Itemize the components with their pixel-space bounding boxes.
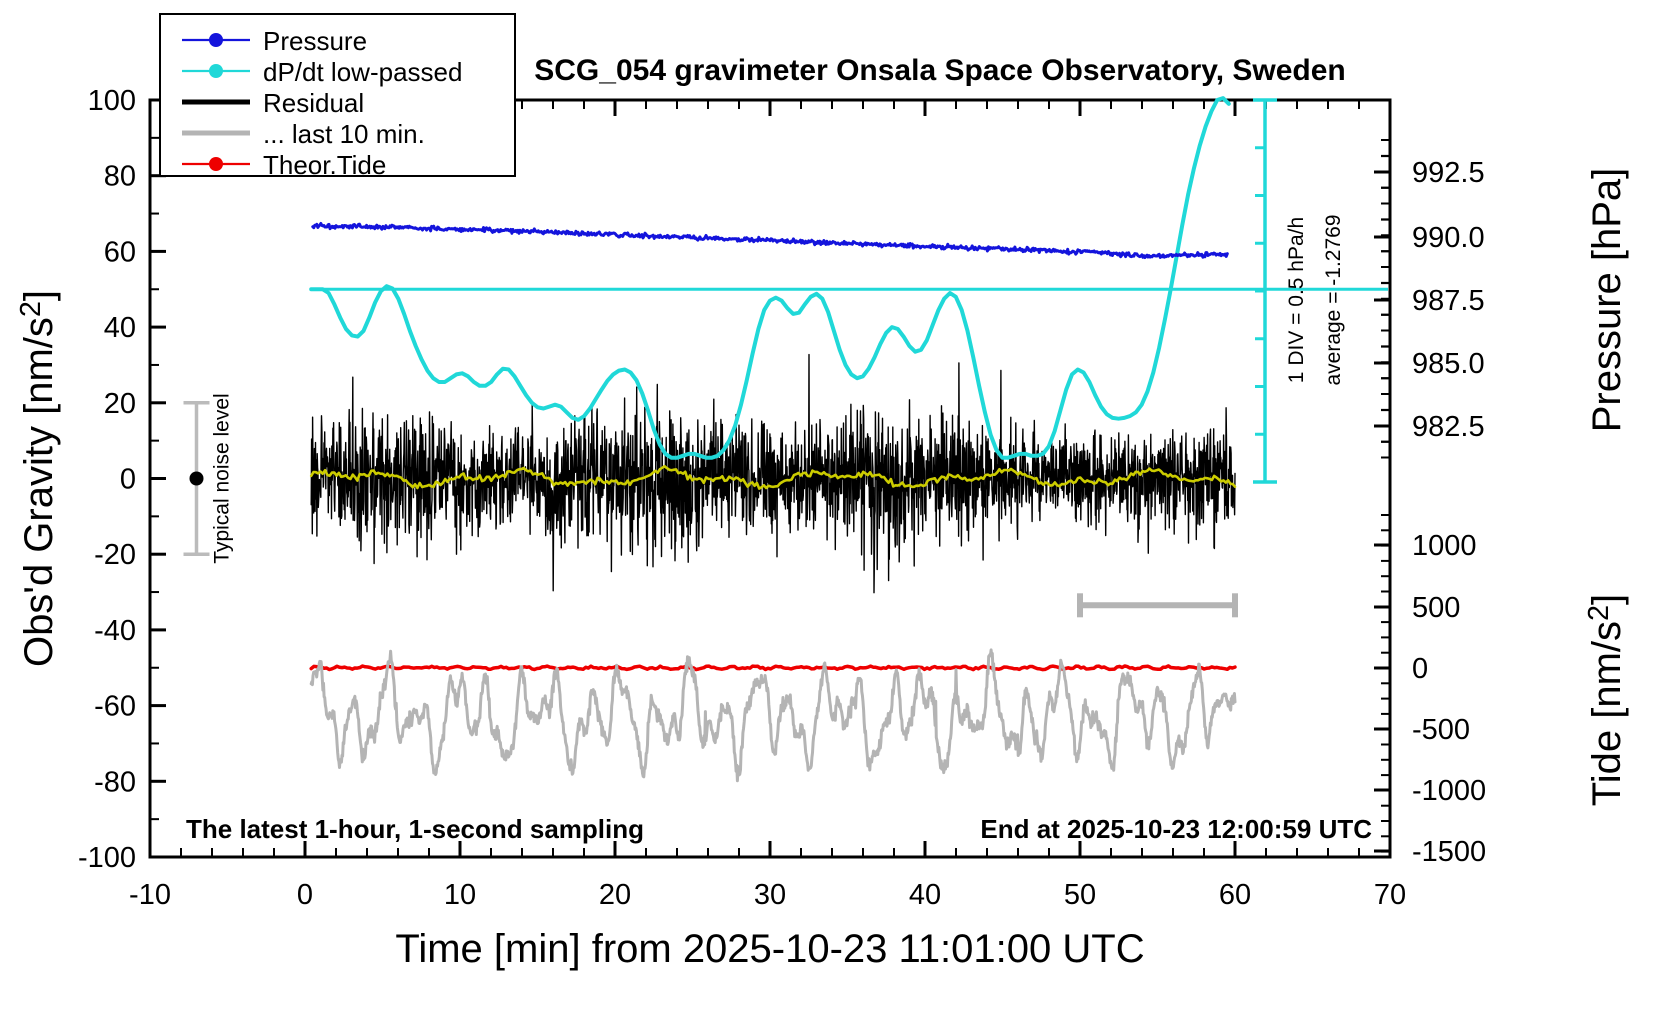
noise-center-dot xyxy=(190,472,204,486)
tide-tick-label: 500 xyxy=(1412,592,1460,624)
x-tick-label: -10 xyxy=(129,879,171,911)
footer-right-label: End at 2025-10-23 12:00:59 UTC xyxy=(980,814,1372,844)
x-tick-label: 0 xyxy=(297,879,313,911)
pressure-tick-label: 987.5 xyxy=(1412,285,1485,317)
x-axis-title: Time [min] from 2025-10-23 11:01:00 UTC xyxy=(395,927,1144,971)
y-tick-label: -80 xyxy=(94,766,136,798)
y-axis-title-left: Obs'd Gravity [nm/s2] xyxy=(15,290,61,667)
typical-noise-level: Typical noise levelThe latest 1-hour, 1-… xyxy=(160,14,1629,844)
typical-noise-label: Typical noise level xyxy=(211,393,234,563)
footer-annotations: The latest 1-hour, 1-second samplingEnd … xyxy=(160,14,1629,844)
y-tick-label: -40 xyxy=(94,615,136,647)
pressure-tick-label: 990.0 xyxy=(1412,222,1485,254)
legend-swatch-dot xyxy=(209,64,223,78)
x-tick-label: 30 xyxy=(754,879,786,911)
y-tick-label: -20 xyxy=(94,539,136,571)
legend-label-1: dP/dt low-passed xyxy=(263,57,462,87)
x-tick-label: 70 xyxy=(1374,879,1406,911)
title-group: SCG_054 gravimeter Onsala Space Observat… xyxy=(160,14,1629,844)
y-tick-label: 60 xyxy=(104,236,136,268)
residual-trace xyxy=(311,355,1235,593)
y-tick-label: -100 xyxy=(78,842,136,874)
y-axis-left: 100806040200-20-40-60-80-100Obs'd Gravit… xyxy=(15,14,1629,874)
dpdt-average-label: average = -1.2769 xyxy=(1322,214,1345,385)
chart-page: -10010203040506070Time [min] from 2025-1… xyxy=(0,0,1660,1020)
y-axis-title-pressure: Pressure [hPa] xyxy=(1585,168,1629,433)
x-tick-label: 60 xyxy=(1219,879,1251,911)
dpdt-scale-bar: 1 DIV = 0.5 hPa/haverage = -1.2769Typica… xyxy=(160,14,1629,844)
right-axis-titles: Pressure [hPa]Tide [nm/s2] xyxy=(1583,168,1629,806)
y-axis-right-pressure: 992.5990.0987.5985.0982.510005000-500-10… xyxy=(160,14,1629,868)
pressure-tick-label: 985.0 xyxy=(1412,348,1485,380)
legend-swatch-dot xyxy=(209,157,223,171)
footer-left-label: The latest 1-hour, 1-second sampling xyxy=(186,814,644,844)
y-tick-label: 20 xyxy=(104,388,136,420)
last-10-min-marker: The latest 1-hour, 1-second samplingEnd … xyxy=(160,14,1629,844)
series-dpdt: 1 DIV = 0.5 hPa/haverage = -1.2769Typica… xyxy=(160,14,1629,844)
pressure-tick-label: 992.5 xyxy=(1412,157,1485,189)
pressure-tick-label: 982.5 xyxy=(1412,411,1485,443)
tide-tick-label: -1500 xyxy=(1412,836,1486,868)
dpdt-div-label: 1 DIV = 0.5 hPa/h xyxy=(1285,217,1308,383)
tide-tick-label: 0 xyxy=(1412,653,1428,685)
page-title: SCG_054 gravimeter Onsala Space Observat… xyxy=(534,54,1346,87)
legend-label-0: Pressure xyxy=(263,26,367,56)
x-tick-label: 10 xyxy=(444,879,476,911)
x-tick-label: 50 xyxy=(1064,879,1096,911)
theor-tide-line xyxy=(311,666,1235,670)
y-axis-title-tide: Tide [nm/s2] xyxy=(1583,594,1629,806)
x-tick-label: 20 xyxy=(599,879,631,911)
y-tick-label: 40 xyxy=(104,312,136,344)
x-tick-label: 40 xyxy=(909,879,941,911)
legend-label-3: ... last 10 min. xyxy=(263,119,425,149)
series-last-10-min: 1 DIV = 0.5 hPa/haverage = -1.2769Typica… xyxy=(160,14,1629,844)
legend-label-4: Theor.Tide xyxy=(263,150,386,180)
tide-tick-label: -500 xyxy=(1412,714,1470,746)
gravimeter-chart: -10010203040506070Time [min] from 2025-1… xyxy=(0,0,1660,1020)
series-residual: 1 DIV = 0.5 hPa/haverage = -1.2769Typica… xyxy=(160,14,1629,844)
y-axis-right-tide: 10005000-500-1000-1500SCG_054 gravimeter… xyxy=(160,14,1629,868)
x-axis: -10010203040506070Time [min] from 2025-1… xyxy=(15,14,1629,971)
series-pressure: Typical noise levelThe latest 1-hour, 1-… xyxy=(160,14,1629,844)
legend-label-2: Residual xyxy=(263,88,364,118)
series-theor-tide: 1 DIV = 0.5 hPa/haverage = -1.2769Typica… xyxy=(160,14,1629,844)
series-residual-smoothed: 1 DIV = 0.5 hPa/haverage = -1.2769Typica… xyxy=(160,14,1629,844)
tide-tick-label: -1000 xyxy=(1412,775,1486,807)
pressure-trace xyxy=(313,224,1228,258)
plot-frame: -10010203040506070Time [min] from 2025-1… xyxy=(15,14,1629,971)
y-tick-label: 100 xyxy=(88,85,136,117)
y-tick-label: -60 xyxy=(94,691,136,723)
tide-tick-label: 1000 xyxy=(1412,530,1477,562)
y-axis-title-pressure-wrap: 10005000-500-1000-1500SCG_054 gravimeter… xyxy=(160,14,1629,868)
y-tick-label: 0 xyxy=(120,464,136,496)
y-tick-label: 80 xyxy=(104,161,136,193)
legend-swatch-dot xyxy=(209,33,223,47)
